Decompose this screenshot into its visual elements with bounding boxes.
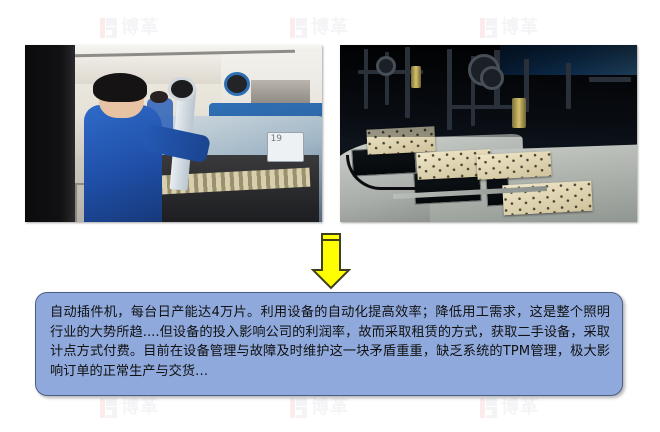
- callout-box: 自动插件机，每台日产能达4万片。利用设备的自动化提高效率；降低用工需求，这是整个…: [35, 292, 623, 396]
- boge-logo-icon: [290, 18, 307, 38]
- boge-logo-icon: [100, 18, 117, 38]
- down-arrow-icon: [311, 232, 351, 290]
- watermark: 博革: [100, 18, 159, 38]
- watermark: 博革: [100, 398, 159, 418]
- watermark: 博革: [290, 398, 349, 418]
- watermark: 博革: [480, 398, 539, 418]
- boge-logo-icon: [480, 398, 497, 418]
- watermark-text: 博革: [501, 398, 539, 418]
- watermark: 博革: [480, 18, 539, 38]
- watermark-text: 博革: [121, 398, 159, 418]
- boge-logo-icon: [290, 398, 307, 418]
- photo-production-line: [25, 45, 322, 222]
- watermark: 博革: [290, 18, 349, 38]
- watermark-text: 博革: [501, 18, 539, 38]
- photo-insertion-machine: [340, 45, 637, 222]
- callout-text: 自动插件机，每台日产能达4万片。利用设备的自动化提高效率；降低用工需求，这是整个…: [50, 303, 610, 381]
- watermark-text: 博革: [311, 398, 349, 418]
- boge-logo-icon: [100, 398, 117, 418]
- boge-logo-icon: [480, 18, 497, 38]
- watermark-text: 博革: [121, 18, 159, 38]
- watermark-text: 博革: [311, 18, 349, 38]
